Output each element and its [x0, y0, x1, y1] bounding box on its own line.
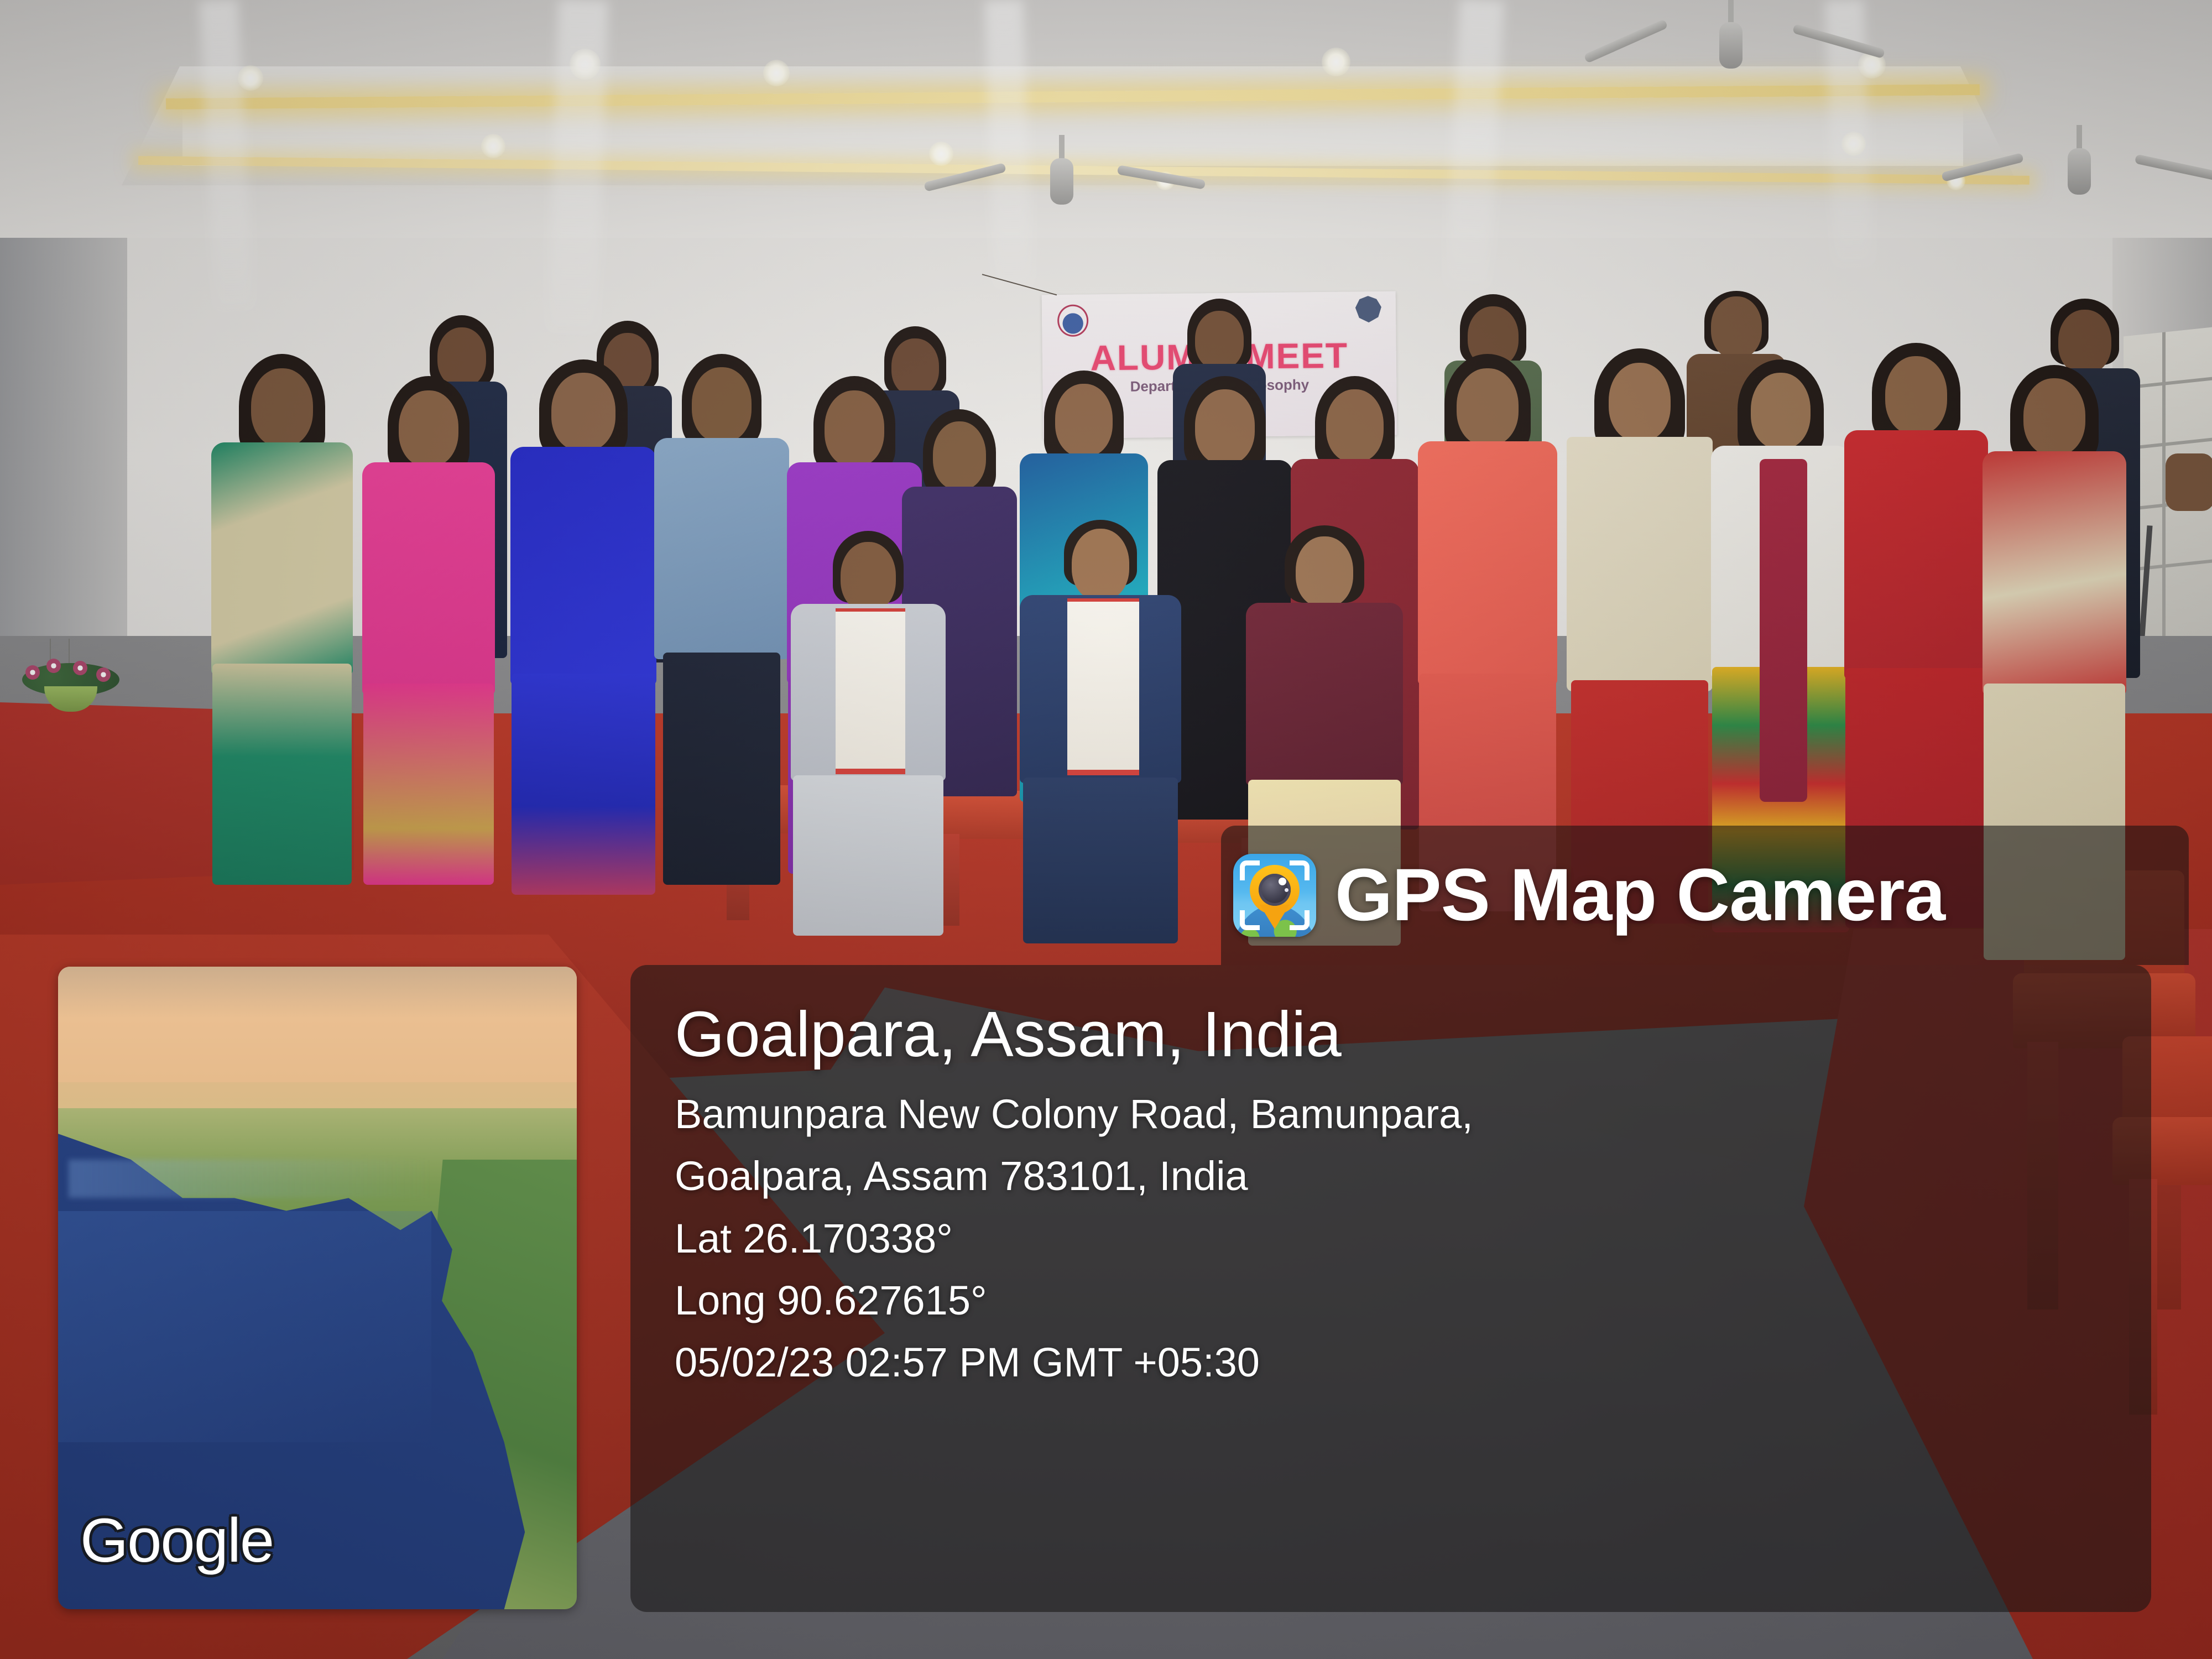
bracket-bottom-right-icon [1290, 910, 1310, 930]
bracket-top-right-icon [1290, 860, 1310, 880]
person-seated-grey-kurta [788, 531, 948, 929]
map-thumbnail[interactable]: Google [58, 967, 577, 1609]
location-address-line-2: Goalpara, Assam 783101, India [675, 1145, 2151, 1207]
google-watermark: Google [80, 1505, 273, 1576]
bracket-top-left-icon [1240, 860, 1260, 880]
map-top-shade [58, 967, 577, 1018]
location-longitude: Long 90.627615° [675, 1270, 2151, 1332]
map-continental-shelf [58, 1211, 431, 1442]
person-seated-blue-suit [1018, 520, 1183, 940]
gamosa-scarf [836, 608, 905, 774]
gps-app-title: GPS Map Camera [1335, 858, 1945, 932]
gps-info-panel: Goalpara, Assam, India Bamunpara New Col… [630, 965, 2151, 1612]
gps-map-camera-icon [1233, 854, 1316, 937]
person-saree-pink [359, 376, 498, 885]
capture-timestamp: 05/02/23 02:57 PM GMT +05:30 [675, 1332, 2151, 1394]
location-place: Goalpara, Assam, India [675, 999, 2151, 1070]
bracket-bottom-left-icon [1240, 910, 1260, 930]
gamosa-scarf [1067, 598, 1139, 775]
gps-app-header: GPS Map Camera [1221, 826, 2189, 965]
location-address-line-1: Bamunpara New Colony Road, Bamunpara, [675, 1083, 2151, 1145]
camera-lens-icon [1259, 874, 1291, 906]
map-coastline-highlight [69, 1160, 432, 1198]
location-latitude: Lat 26.170338° [675, 1208, 2151, 1270]
gps-map-camera-photo: ALUMNI MEET Department of Philosophy Goa… [0, 0, 2212, 1659]
person-saree-green [210, 354, 354, 885]
person-saree-coral [1416, 354, 1559, 907]
person-denim-jacket [653, 354, 791, 879]
person-raised-hand [2157, 453, 2212, 520]
person-saree-blue [509, 359, 658, 890]
